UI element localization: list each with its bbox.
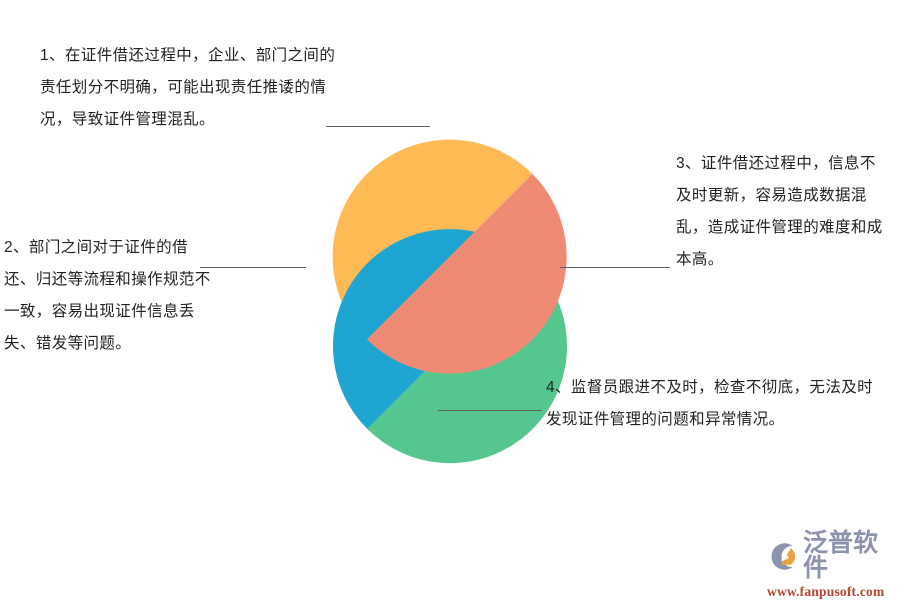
brand-watermark: 泛普软件 www.fanpusoft.com <box>766 531 894 589</box>
connector-line-2 <box>200 267 306 268</box>
brand-name: 泛普软件 <box>803 531 894 581</box>
connector-line-3 <box>560 267 670 268</box>
issue-text-3: 3、证件借还过程中，信息不及时更新，容易造成数据混乱，造成证件管理的难度和成本高… <box>676 148 890 276</box>
issue-text-4: 4、监督员跟进不及时，检查不彻底，无法及时发现证件管理的问题和异常情况。 <box>546 372 876 436</box>
brand-url: www.fanpusoft.com <box>767 584 884 600</box>
petal-blue-shape <box>285 181 533 429</box>
fanpu-logo-icon <box>766 540 799 573</box>
issue-text-2: 2、部门之间对于证件的借还、归还等流程和操作规范不一致，容易出现证件信息丢失、错… <box>4 232 212 360</box>
brand-row: 泛普软件 <box>766 531 894 581</box>
connector-line-4 <box>438 410 542 411</box>
infographic-canvas: 1、在证件借还过程中，企业、部门之间的责任划分不明确，可能出现责任推诿的情况，导… <box>0 0 900 600</box>
issue-text-1: 1、在证件借还过程中，企业、部门之间的责任划分不明确，可能出现责任推诿的情况，导… <box>40 40 350 136</box>
